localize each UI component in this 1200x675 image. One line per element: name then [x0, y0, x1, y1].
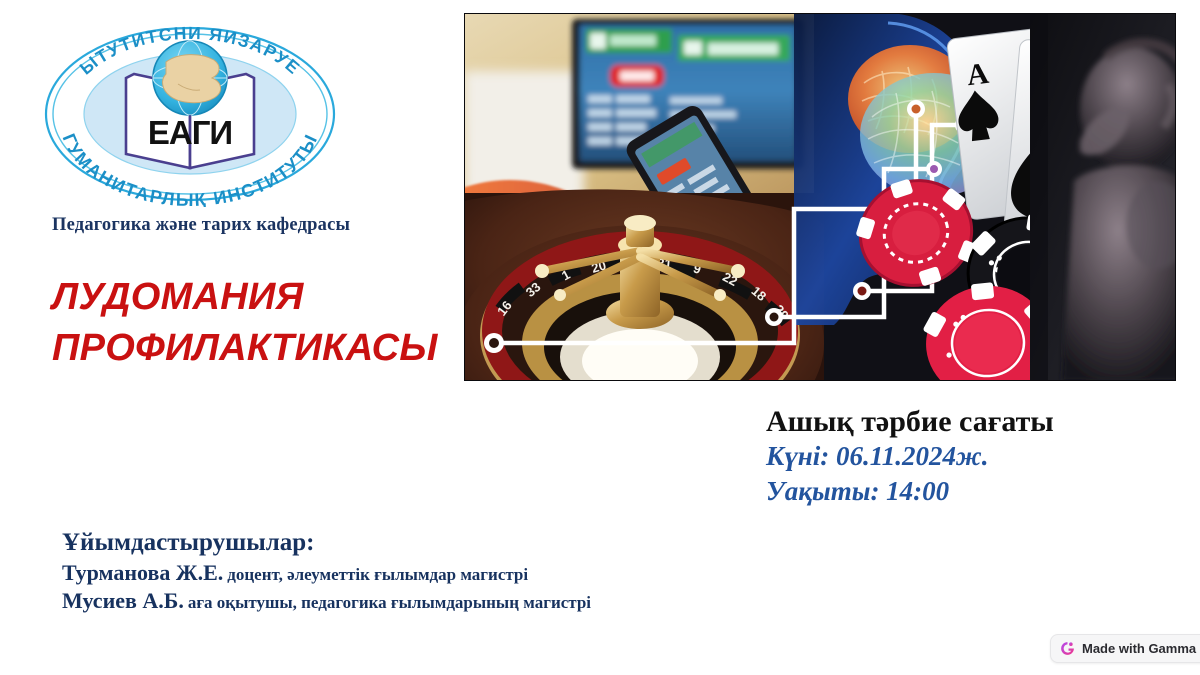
title-line-2: ПРОФИЛАКТИКАСЫ — [52, 323, 472, 374]
eagi-institute-logo: ЫТУТИТСНИ ЯИЗАРУЕ ГУМАНИТАРЛЫҚ ИНСТИТУТЫ — [30, 22, 350, 207]
logo-graphic: ЫТУТИТСНИ ЯИЗАРУЕ ГУМАНИТАРЛЫҚ ИНСТИТУТЫ — [30, 22, 350, 207]
gamma-logo-icon — [1060, 641, 1075, 656]
organizers-heading: Ұйымдастырушылар: — [62, 528, 802, 559]
logo-acronym: ЕАГИ — [148, 114, 232, 151]
event-info: Ашық тәрбие сағаты Күні: 06.11.2024ж. Уа… — [766, 404, 1186, 508]
made-with-gamma-badge[interactable]: Made with Gamma — [1050, 634, 1200, 663]
organizer-name: Турманова Ж.Е. — [62, 560, 223, 585]
distressed-person-silhouette — [1030, 13, 1176, 381]
organizer-row: Мусиев А.Б. аға оқытушы, педагогика ғылы… — [62, 587, 802, 616]
organizer-role: доцент, әлеуметтік ғылымдар магистрі — [227, 565, 528, 584]
title-line-1: ЛУДОМАНИЯ — [52, 272, 472, 323]
collage-graphic: 16 33 1 20 14 31 9 22 18 29 — [464, 13, 1176, 381]
card-rank-label: A — [965, 57, 991, 92]
event-date: Күні: 06.11.2024ж. — [766, 439, 1186, 474]
organizer-row: Турманова Ж.Е. доцент, әлеуметтік ғылымд… — [62, 559, 802, 588]
gamma-logo-glyph — [1060, 641, 1075, 656]
event-time: Уақыты: 14:00 — [766, 474, 1186, 509]
gambling-addiction-collage: 16 33 1 20 14 31 9 22 18 29 — [464, 13, 1176, 381]
department-label: Педагогика және тарих кафедрасы — [52, 215, 350, 236]
page-title: ЛУДОМАНИЯ ПРОФИЛАКТИКАСЫ — [52, 272, 472, 373]
organizers-block: Ұйымдастырушылар: Турманова Ж.Е. доцент,… — [62, 528, 802, 616]
organizer-name: Мусиев А.Б. — [62, 588, 184, 613]
gamma-badge-label: Made with Gamma — [1082, 641, 1196, 656]
roulette-wheel: 16 33 1 20 14 31 9 22 18 29 — [464, 189, 824, 381]
organizer-role: аға оқытушы, педагогика ғылымдарының маг… — [188, 593, 591, 612]
event-heading: Ашық тәрбие сағаты — [766, 404, 1186, 439]
presentation-slide: ЫТУТИТСНИ ЯИЗАРУЕ ГУМАНИТАРЛЫҚ ИНСТИТУТЫ — [0, 0, 1200, 675]
